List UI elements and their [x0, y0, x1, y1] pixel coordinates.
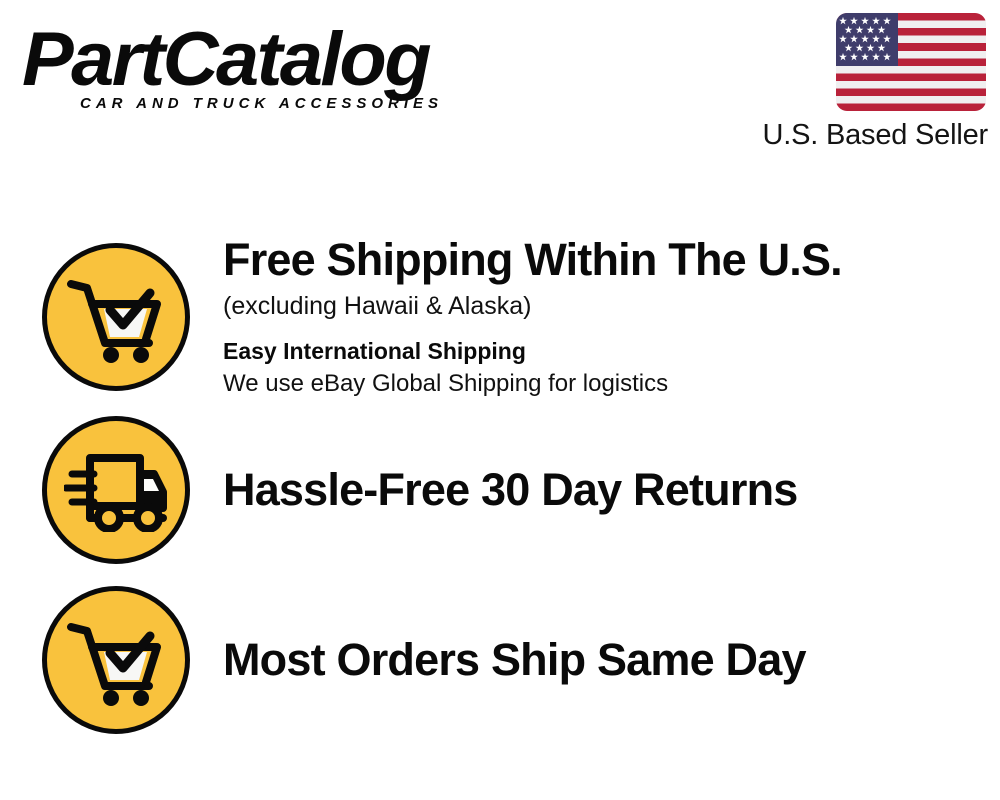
benefit-text: Most Orders Ship Same Day [223, 635, 1000, 685]
us-flag-icon [836, 13, 986, 111]
benefit-secondary-body: We use eBay Global Shipping for logistic… [223, 368, 980, 400]
delivery-truck-icon [42, 416, 190, 564]
benefit-headline: Most Orders Ship Same Day [223, 635, 980, 685]
us-based-seller-caption: U.S. Based Seller [763, 118, 989, 152]
benefit-text: Free Shipping Within The U.S. (excluding… [223, 235, 1000, 400]
brand-tagline: CAR AND TRUCK ACCESSORIES [80, 96, 443, 111]
shopping-cart-check-icon [42, 243, 190, 391]
benefit-row: Hassle-Free 30 Day Returns [0, 415, 1000, 565]
brand-logo[interactable]: PartCatalog CAR AND TRUCK ACCESSORIES [22, 22, 492, 114]
benefit-headline: Free Shipping Within The U.S. [223, 235, 980, 285]
benefit-text: Hassle-Free 30 Day Returns [223, 465, 1000, 515]
benefit-subtext: (excluding Hawaii & Alaska) [223, 289, 980, 323]
flag-stars [836, 13, 898, 66]
benefit-secondary-title: Easy International Shipping [223, 336, 980, 366]
benefit-headline: Hassle-Free 30 Day Returns [223, 465, 980, 515]
benefit-row: Most Orders Ship Same Day [0, 585, 1000, 735]
benefit-row: Free Shipping Within The U.S. (excluding… [0, 242, 1000, 392]
brand-wordmark: PartCatalog [22, 22, 501, 98]
page-header: PartCatalog CAR AND TRUCK ACCESSORIES [0, 0, 1000, 180]
shopping-cart-check-icon [42, 586, 190, 734]
